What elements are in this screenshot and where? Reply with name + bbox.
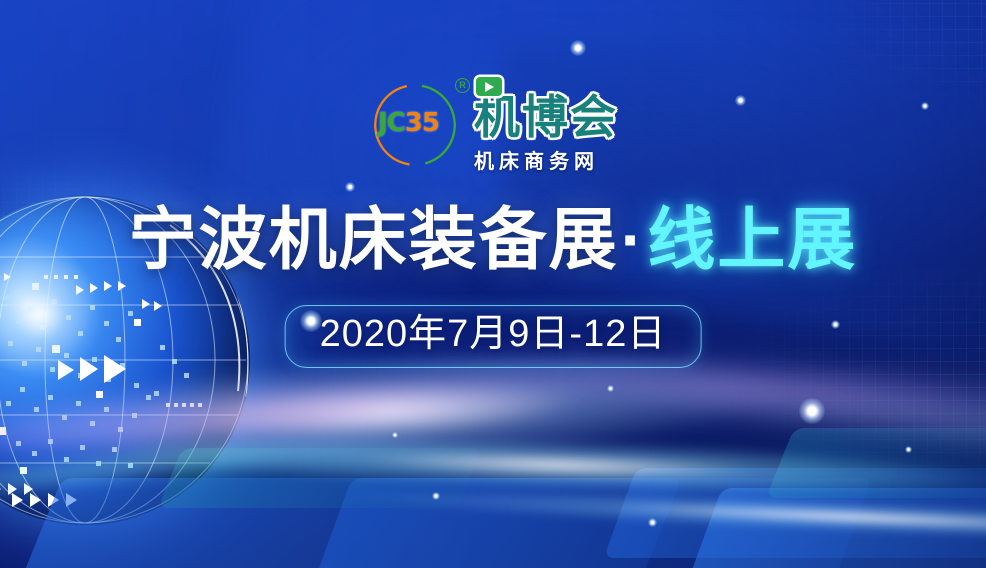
event-date-badge: 2020年7月9日-12日 <box>285 305 702 368</box>
headline-main: 宁波机床装备展 <box>129 202 619 278</box>
headline-highlight: 线上展 <box>647 202 857 278</box>
grid-pattern-top-right <box>786 0 986 130</box>
logo-sub-text: 机床商务网 <box>474 145 618 174</box>
light-particle <box>570 40 586 56</box>
event-logo[interactable]: JC35 R 机博会 机床商务网 <box>372 80 618 176</box>
light-particle <box>831 320 840 329</box>
play-icon <box>476 77 502 96</box>
light-particle <box>799 398 825 424</box>
logo-wordmark: 机博会 机床商务网 <box>474 80 618 174</box>
light-particle <box>905 446 912 453</box>
logo-mark-text: JC35 <box>378 110 454 136</box>
jc35-logo-mark: JC35 R <box>372 80 468 170</box>
light-particle <box>432 492 440 500</box>
light-particle <box>735 95 746 106</box>
light-particle <box>345 182 355 192</box>
event-banner: JC35 R 机博会 机床商务网 宁波机床装备展·线上展 2020年7月9日-1… <box>0 0 986 568</box>
logo-main-text: 机博会 <box>474 94 618 140</box>
registered-trademark-icon: R <box>455 78 470 93</box>
headline-separator: · <box>619 202 648 278</box>
banner-headline: 宁波机床装备展·线上展 <box>0 206 986 274</box>
grid-pattern-right <box>706 270 986 510</box>
light-particle <box>921 102 929 110</box>
light-particle <box>607 385 614 392</box>
light-particle <box>648 518 657 527</box>
light-particle <box>392 432 398 438</box>
